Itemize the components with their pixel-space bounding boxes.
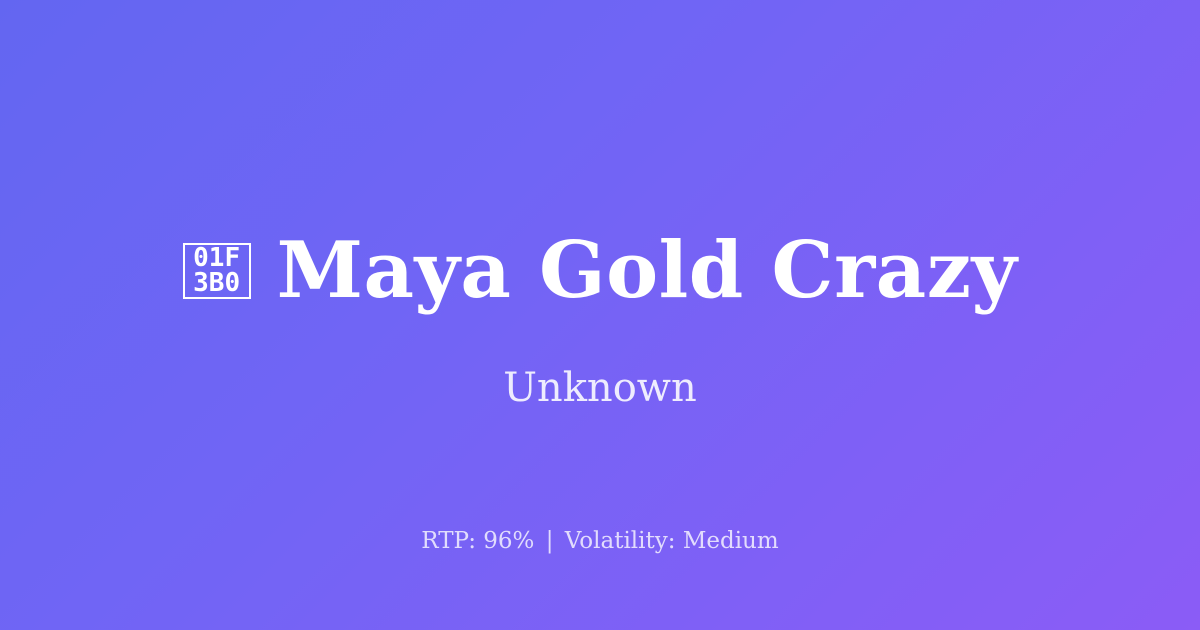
game-stats: RTP: 96% | Volatility: Medium [0,527,1200,557]
rtp-value: 96% [483,528,534,554]
provider-name: Unknown [0,364,1200,412]
stats-separator: | [542,528,558,554]
title-row: 01F 3B0 Maya Gold Crazy [0,232,1200,310]
game-preview-card: 01F 3B0 Maya Gold Crazy Unknown RTP: 96%… [0,0,1200,630]
slot-machine-icon: 01F 3B0 [183,243,251,299]
rtp-label: RTP: [421,528,476,554]
page-title: Maya Gold Crazy [277,232,1018,310]
volatility-value: Medium [683,528,779,554]
volatility-label: Volatility: [565,528,676,554]
codepoint-line-2: 3B0 [193,271,240,296]
